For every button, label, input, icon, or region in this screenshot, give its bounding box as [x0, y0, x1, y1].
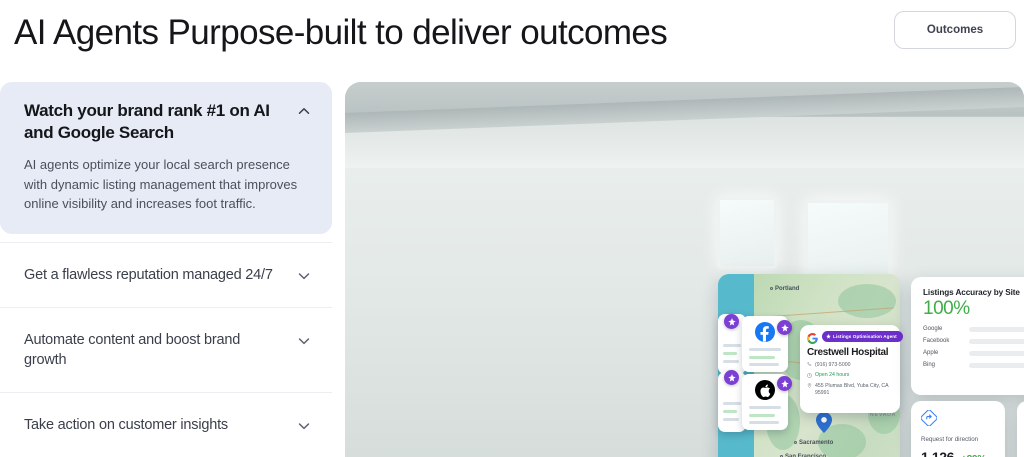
apple-icon [755, 380, 775, 400]
site-label-google: Google [923, 326, 969, 332]
metric-card-directions: Request for direction 1,126 +89% [911, 401, 1005, 457]
business-listing-card[interactable]: Listings Optimisation Agent Crestwell Ho… [800, 325, 900, 413]
accordion-title-3: Take action on customer insights [24, 415, 228, 435]
site-bar-track-facebook [969, 339, 1024, 344]
metric-value-directions: 1,126 [921, 449, 954, 457]
map-label-sacramento: Sacramento [794, 440, 833, 446]
site-bar-track-bing [969, 363, 1024, 368]
window-left [717, 197, 777, 269]
site-row-bing: Bing [923, 362, 1024, 368]
feature-accordion: Watch your brand rank #1 on AI and Googl… [0, 82, 332, 457]
outcomes-button-label: Outcomes [927, 24, 983, 36]
page-root: AI Agents Purpose-built to deliver outco… [0, 0, 1024, 457]
accordion-title-2: Automate content and boost brand growth [24, 330, 286, 370]
accordion-title-0: Watch your brand rank #1 on AI and Googl… [24, 100, 274, 144]
accordion-header-2[interactable]: Automate content and boost brand growth [24, 330, 312, 370]
ceiling [345, 82, 1024, 168]
map-label-portland: Portland [770, 286, 799, 292]
agent-badge-icon-3 [724, 370, 739, 385]
site-row-facebook: Facebook [923, 338, 1024, 344]
accordion-item-0[interactable]: Watch your brand rank #1 on AI and Googl… [0, 82, 332, 234]
facebook-icon [755, 322, 775, 342]
direction-icon [921, 410, 937, 426]
business-card-header: Listings Optimisation Agent [807, 331, 893, 342]
business-phone-row: (916) 973-5000 [807, 362, 893, 369]
business-hours-row: Open 24 hours [807, 372, 893, 379]
phone-icon [807, 362, 812, 367]
agent-badge-label: Listings Optimisation Agent [833, 334, 897, 339]
site-bar-track-apple [969, 351, 1024, 356]
accordion-header-0[interactable]: Watch your brand rank #1 on AI and Googl… [24, 100, 312, 144]
accordion-item-3[interactable]: Take action on customer insights [0, 392, 332, 457]
site-label-bing: Bing [923, 362, 969, 368]
business-phone: (916) 973-5000 [815, 362, 850, 369]
site-row-google: Google [923, 326, 1024, 332]
ceiling-beam [345, 86, 1024, 135]
listings-optimisation-agent-badge[interactable]: Listings Optimisation Agent [822, 331, 903, 342]
site-label-facebook: Facebook [923, 338, 969, 344]
accordion-header-1[interactable]: Get a flawless reputation managed 24/7 [24, 265, 312, 285]
business-hours: Open 24 hours [815, 372, 849, 379]
sparkle-icon [826, 334, 831, 339]
clock-icon [807, 373, 812, 378]
chevron-up-icon[interactable] [296, 103, 312, 119]
metric-values-directions: 1,126 +89% [921, 449, 995, 457]
listings-accuracy-card: Listings Accuracy by Site 100% Google Fa… [911, 277, 1024, 395]
media-panel: stwell Y HOSPITAL [345, 82, 1024, 457]
location-pin-icon [807, 383, 812, 388]
accordion-item-1[interactable]: Get a flawless reputation managed 24/7 [0, 242, 332, 307]
listings-accuracy-percent: 100% [923, 298, 1024, 320]
site-row-apple: Apple [923, 350, 1024, 356]
agent-badge-icon-1 [724, 314, 739, 329]
site-label-apple: Apple [923, 350, 969, 356]
site-bar-track-google [969, 327, 1024, 332]
metric-label-directions: Request for direction [921, 436, 995, 444]
chevron-down-icon[interactable] [296, 268, 312, 284]
chevron-down-icon[interactable] [296, 333, 312, 349]
metric-card-calls: Call Clicks 726 +92% [1017, 401, 1024, 457]
accordion-header-3[interactable]: Take action on customer insights [24, 415, 312, 435]
business-name: Crestwell Hospital [807, 347, 893, 358]
google-icon [807, 331, 818, 342]
business-address: 455 Plumas Blvd, Yuba City, CA 95991 [815, 383, 893, 397]
agent-badge-icon-2 [777, 320, 792, 335]
agent-badge-icon-4 [777, 376, 792, 391]
page-header: AI Agents Purpose-built to deliver outco… [0, 0, 1024, 72]
listings-accuracy-title: Listings Accuracy by Site [923, 288, 1024, 297]
accordion-body-0: AI agents optimize your local search pre… [24, 155, 312, 214]
map-location-pin-icon[interactable] [816, 412, 832, 433]
business-address-row: 455 Plumas Blvd, Yuba City, CA 95991 [807, 383, 893, 397]
accordion-title-1: Get a flawless reputation managed 24/7 [24, 265, 273, 285]
page-title: AI Agents Purpose-built to deliver outco… [14, 11, 667, 55]
chevron-down-icon[interactable] [296, 418, 312, 434]
accordion-item-2[interactable]: Automate content and boost brand growth [0, 307, 332, 392]
outcomes-button[interactable]: Outcomes [894, 11, 1016, 49]
